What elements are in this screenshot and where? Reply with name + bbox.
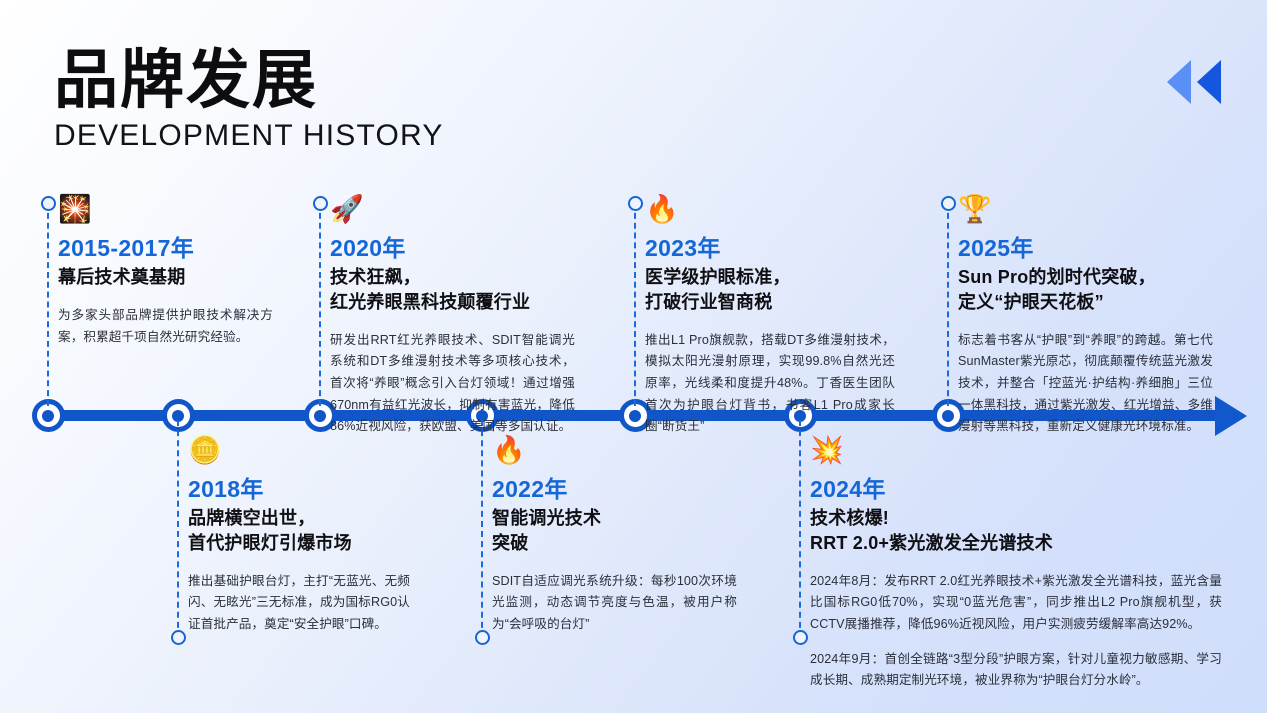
- page-header: 品牌发展 DEVELOPMENT HISTORY: [54, 46, 444, 153]
- timeline-stem-ring: [313, 196, 328, 211]
- timeline-stem: [634, 203, 636, 406]
- entry-body: SDIT自适应调光系统升级：每秒100次环境光监测，动态调节亮度与色温，被用户称…: [492, 571, 737, 636]
- entry-subtitle: 幕后技术奠基期: [58, 265, 273, 290]
- timeline-stem: [481, 420, 483, 638]
- trophy-icon: 🏆: [958, 196, 1213, 226]
- timeline-stem-ring: [941, 196, 956, 211]
- timeline-arrow-icon: [1215, 396, 1247, 436]
- timeline-entry: 🚀2020年技术狂飙，红光养眼黑科技颠覆行业研发出RRT红光养眼技术、SDIT智…: [330, 196, 575, 438]
- timeline-entry: 🏆2025年Sun Pro的划时代突破，定义“护眼天花板”标志着书客从“护眼”到…: [958, 196, 1213, 438]
- timeline-stem-ring: [171, 630, 186, 645]
- timeline-entry: 🪙2018年品牌横空出世，首代护眼灯引爆市场推出基础护眼台灯，主打“无蓝光、无频…: [188, 437, 410, 636]
- timeline-stem: [47, 203, 49, 406]
- timeline-entry: 💥2024年技术核爆!RRT 2.0+紫光激发全光谱技术2024年8月：发布RR…: [810, 437, 1222, 692]
- entry-paragraph: 研发出RRT红光养眼技术、SDIT智能调光系统和DT多维漫射技术等多项核心技术，…: [330, 330, 575, 438]
- page-subtitle: DEVELOPMENT HISTORY: [54, 119, 444, 153]
- page-title: 品牌发展: [54, 46, 444, 115]
- entry-year: 2024年: [810, 476, 1222, 503]
- entry-body: 标志着书客从“护眼”到“养眼”的跨越。第七代SunMaster紫光原芯，彻底颠覆…: [958, 330, 1213, 438]
- entry-paragraph: 推出基础护眼台灯，主打“无蓝光、无频闪、无眩光”三无标准，成为国标RG0认证首批…: [188, 571, 410, 636]
- timeline-stem: [177, 420, 179, 638]
- timeline-stem-ring: [41, 196, 56, 211]
- entry-subtitle: 品牌横空出世，首代护眼灯引爆市场: [188, 506, 410, 556]
- fire-icon: 🔥: [645, 196, 895, 226]
- entry-paragraph: 推出L1 Pro旗舰款，搭载DT多维漫射技术，模拟太阳光漫射原理，实现99.8%…: [645, 330, 895, 438]
- entry-year: 2018年: [188, 476, 410, 503]
- entry-year: 2020年: [330, 235, 575, 262]
- entry-year: 2022年: [492, 476, 737, 503]
- timeline-stem: [947, 203, 949, 406]
- timeline-entry: 🔥2022年智能调光技术突破SDIT自适应调光系统升级：每秒100次环境光监测，…: [492, 437, 737, 636]
- rocket-icon: 🚀: [330, 196, 575, 226]
- triangle-left-light-icon: [1167, 60, 1191, 104]
- entry-body: 推出基础护眼台灯，主打“无蓝光、无频闪、无眩光”三无标准，成为国标RG0认证首批…: [188, 571, 410, 636]
- entry-subtitle: 医学级护眼标准，打破行业智商税: [645, 265, 895, 315]
- entry-body: 研发出RRT红光养眼技术、SDIT智能调光系统和DT多维漫射技术等多项核心技术，…: [330, 330, 575, 438]
- timeline-stem: [319, 203, 321, 406]
- entry-subtitle: Sun Pro的划时代突破，定义“护眼天花板”: [958, 265, 1213, 315]
- entry-paragraph: 为多家头部品牌提供护眼技术解决方案，积累超千项自然光研究经验。: [58, 305, 273, 348]
- timeline-stem-ring: [475, 630, 490, 645]
- timeline-stem: [799, 420, 801, 638]
- entry-body: 2024年8月：发布RRT 2.0红光养眼技术+紫光激发全光谱科技，蓝光含量比国…: [810, 571, 1222, 692]
- entry-body: 为多家头部品牌提供护眼技术解决方案，积累超千项自然光研究经验。: [58, 305, 273, 348]
- fireworks-icon: 🎇: [58, 196, 273, 226]
- entry-subtitle: 智能调光技术突破: [492, 506, 737, 556]
- entry-body: 推出L1 Pro旗舰款，搭载DT多维漫射技术，模拟太阳光漫射原理，实现99.8%…: [645, 330, 895, 438]
- coin-icon: 🪙: [188, 437, 410, 467]
- fire-icon: 🔥: [492, 437, 737, 467]
- decorative-arrows: [1167, 60, 1221, 104]
- timeline-entry: 🔥2023年医学级护眼标准，打破行业智商税推出L1 Pro旗舰款，搭载DT多维漫…: [645, 196, 895, 438]
- timeline-stem-ring: [793, 630, 808, 645]
- triangle-left-dark-icon: [1197, 60, 1221, 104]
- entry-subtitle: 技术核爆!RRT 2.0+紫光激发全光谱技术: [810, 506, 1222, 556]
- entry-paragraph: SDIT自适应调光系统升级：每秒100次环境光监测，动态调节亮度与色温，被用户称…: [492, 571, 737, 636]
- entry-year: 2023年: [645, 235, 895, 262]
- timeline-entry: 🎇2015-2017年幕后技术奠基期为多家头部品牌提供护眼技术解决方案，积累超千…: [58, 196, 273, 348]
- entry-paragraph: 标志着书客从“护眼”到“养眼”的跨越。第七代SunMaster紫光原芯，彻底颠覆…: [958, 330, 1213, 438]
- entry-subtitle: 技术狂飙，红光养眼黑科技颠覆行业: [330, 265, 575, 315]
- explosion-icon: 💥: [810, 437, 1222, 467]
- timeline-stem-ring: [628, 196, 643, 211]
- entry-year: 2025年: [958, 235, 1213, 262]
- entry-paragraph: 2024年8月：发布RRT 2.0红光养眼技术+紫光激发全光谱科技，蓝光含量比国…: [810, 571, 1222, 636]
- entry-paragraph: 2024年9月：首创全链路“3型分段”护眼方案，针对儿童视力敏感期、学习成长期、…: [810, 649, 1222, 692]
- entry-year: 2015-2017年: [58, 235, 273, 262]
